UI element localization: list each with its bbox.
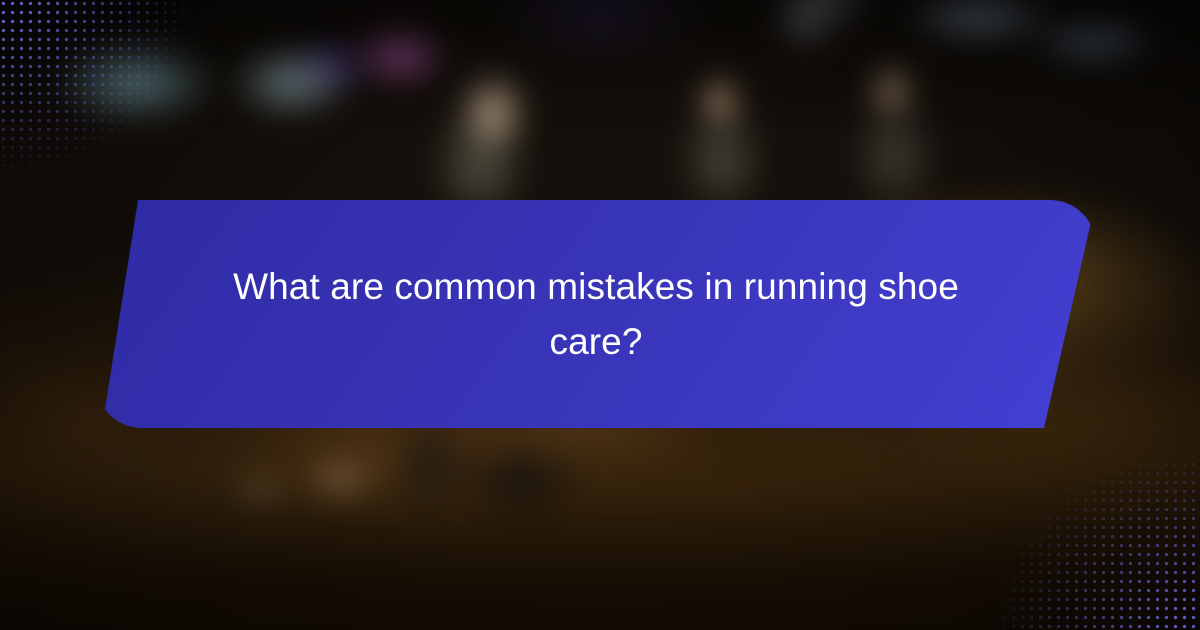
social-question-card-image: What are common mistakes in running shoe… (0, 0, 1200, 630)
question-text: What are common mistakes in running shoe… (216, 259, 976, 370)
question-card-content: What are common mistakes in running shoe… (96, 200, 1096, 428)
question-card: What are common mistakes in running shoe… (96, 200, 1096, 428)
